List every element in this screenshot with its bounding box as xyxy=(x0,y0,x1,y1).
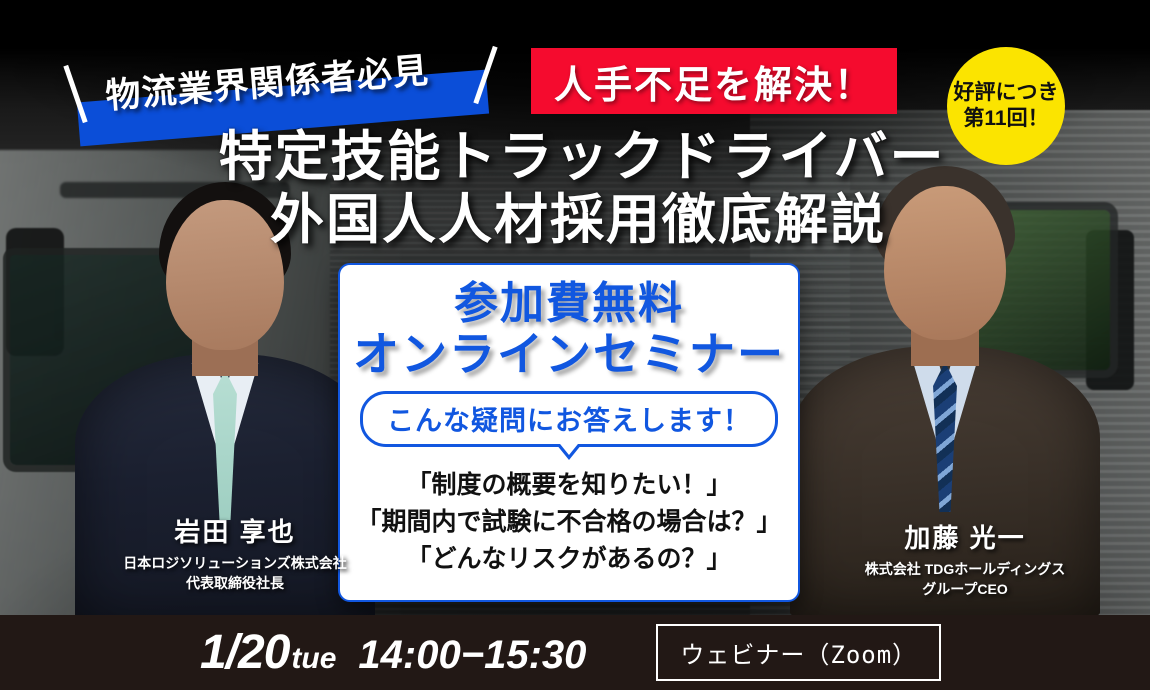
question-bubble-label: こんな疑問にお答えします！ xyxy=(387,406,751,436)
edition-badge-line1: 好評につき xyxy=(954,80,1059,106)
seminar-banner: 物流業界関係者必見 人手不足を解決！ 好評につき 第11回！ 特定技能トラックド… xyxy=(0,0,1150,690)
red-badge: 人手不足を解決！ xyxy=(531,48,897,114)
card-title-line-1: 参加費無料 xyxy=(353,281,785,328)
speaker-right-org-line-1: 株式会社 TDGホールディングス xyxy=(835,559,1095,579)
question-bubble: こんな疑問にお答えします！ xyxy=(360,391,778,447)
speaker-left-name: 岩田 享也 xyxy=(105,512,365,549)
event-date: 1/20 xyxy=(200,625,289,680)
speaker-right-org: 株式会社 TDGホールディングス グループCEO xyxy=(835,559,1095,600)
speaker-right-name: 加藤 光一 xyxy=(835,518,1095,555)
speaker-left-org: 日本ロジソリューションズ株式会社 代表取締役社長 xyxy=(105,553,365,594)
speaker-caption-right: 加藤 光一 株式会社 TDGホールディングス グループCEO xyxy=(835,518,1095,600)
event-time: 14:00−15:30 xyxy=(358,633,586,678)
speaker-left-org-line-1: 日本ロジソリューションズ株式会社 xyxy=(105,553,365,573)
speaker-left-org-line-2: 代表取締役社長 xyxy=(105,573,365,593)
question-item-1: 「制度の概要を知りたい！」 xyxy=(356,467,781,504)
event-day-of-week: tue xyxy=(291,642,336,676)
card-title: 参加費無料 オンラインセミナー xyxy=(353,281,785,378)
event-format-label: ウェビナー（Zoom） xyxy=(680,641,917,669)
question-item-3: 「どんなリスクがあるの？」 xyxy=(356,541,781,578)
headline-line-1: 特定技能トラックドライバー xyxy=(0,126,1150,189)
speaker-caption-left: 岩田 享也 日本ロジソリューションズ株式会社 代表取締役社長 xyxy=(105,512,365,594)
event-format-badge: ウェビナー（Zoom） xyxy=(656,624,941,681)
headline: 特定技能トラックドライバー 外国人人材採用徹底解説 xyxy=(0,126,1150,251)
question-item-2: 「期間内で試験に不合格の場合は？」 xyxy=(356,504,781,541)
headline-line-2: 外国人人材採用徹底解説 xyxy=(0,189,1150,252)
info-card: 参加費無料 オンラインセミナー こんな疑問にお答えします！ 「制度の概要を知りた… xyxy=(338,263,800,602)
question-list: 「制度の概要を知りたい！」 「期間内で試験に不合格の場合は？」 「どんなリスクが… xyxy=(356,467,781,578)
footer-bar: 1/20 tue 14:00−15:30 ウェビナー（Zoom） xyxy=(0,615,1150,690)
speaker-right-org-line-2: グループCEO xyxy=(835,579,1095,599)
event-datetime: 1/20 tue 14:00−15:30 xyxy=(200,625,586,680)
red-badge-label: 人手不足を解決！ xyxy=(554,54,874,109)
card-title-line-2: オンラインセミナー xyxy=(353,330,785,379)
